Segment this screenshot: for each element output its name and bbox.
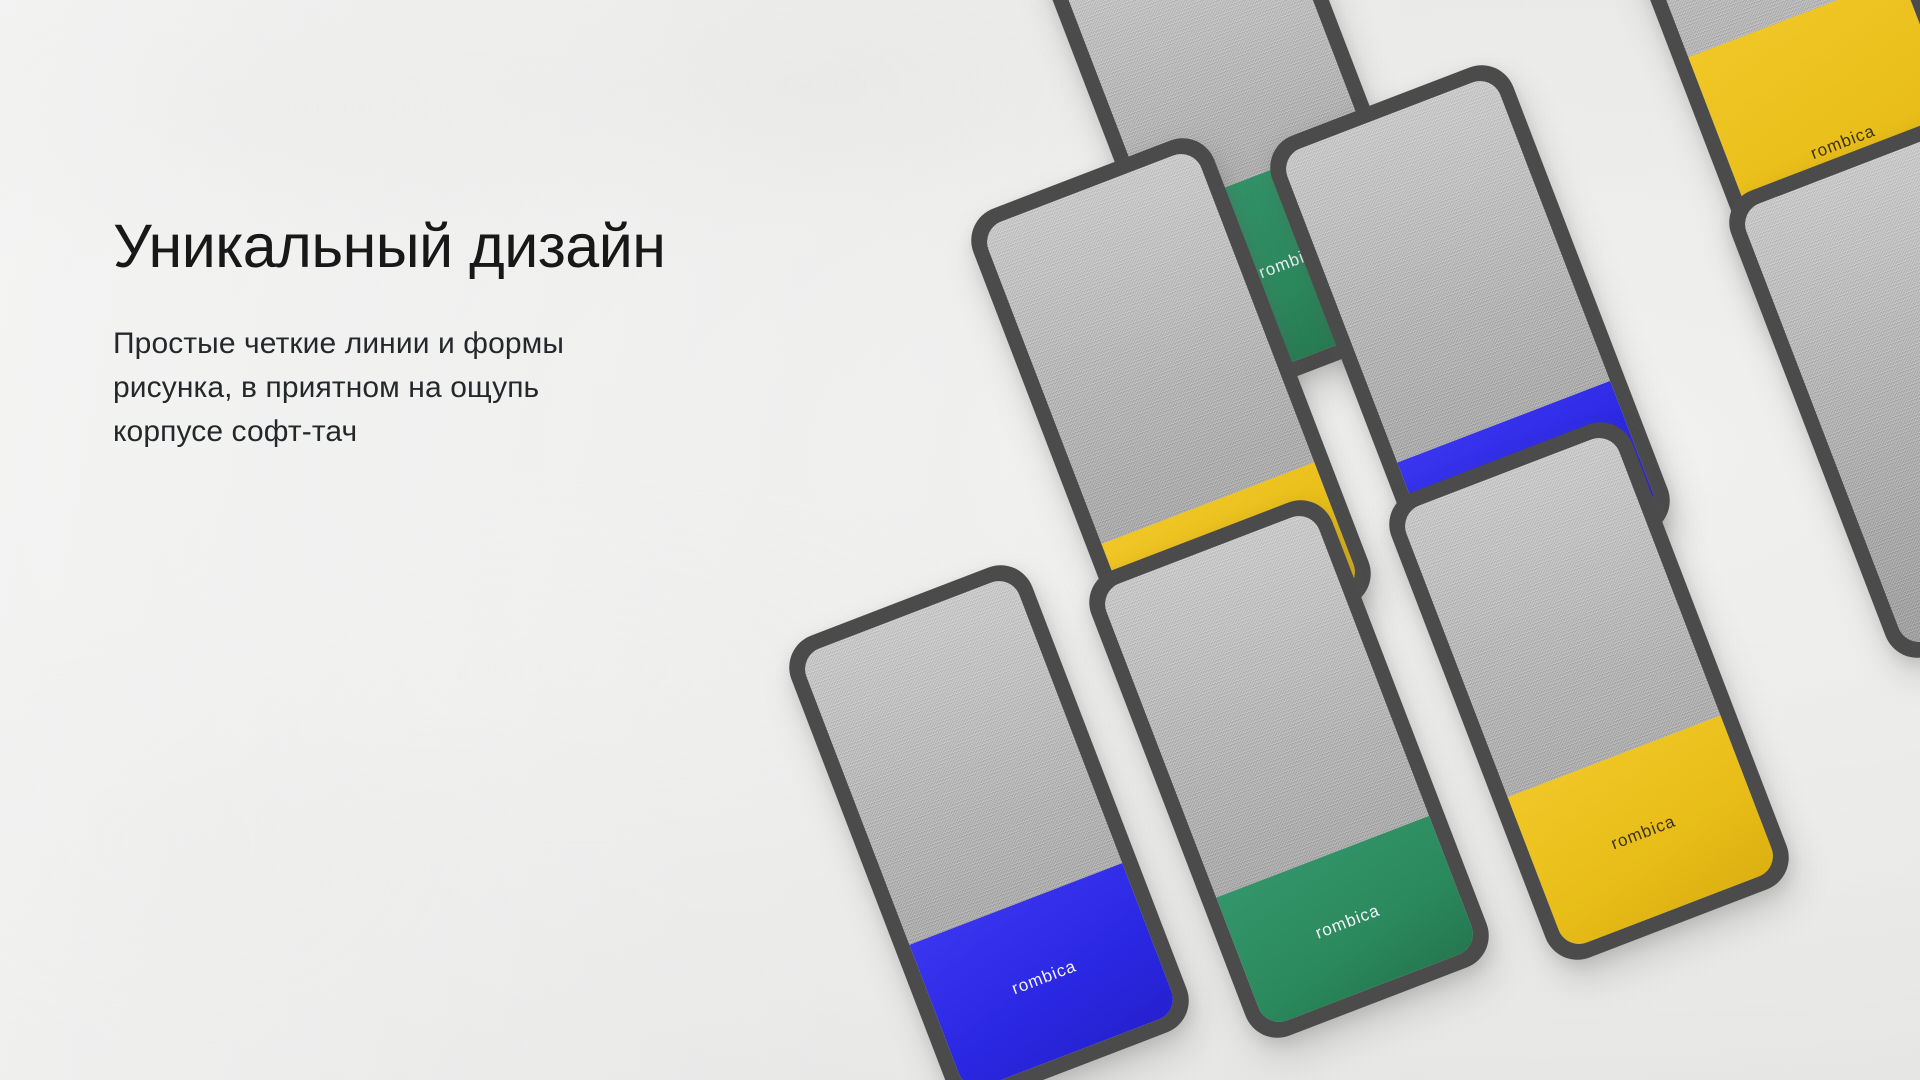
brand-wordmark: rombica	[1009, 957, 1079, 1000]
subtitle-line-1: Простые четкие линии и формы	[113, 322, 703, 366]
brand-wordmark: rombica	[1313, 900, 1383, 943]
promo-banner: rombicarombicarombicarombicarombicarombi…	[0, 0, 1920, 1080]
brand-wordmark: rombica	[1608, 812, 1678, 855]
copy-block: Уникальный дизайн Простые четкие линии и…	[113, 214, 833, 453]
page-subtitle: Простые четкие линии и формы рисунка, в …	[113, 322, 703, 453]
page-title: Уникальный дизайн	[113, 214, 833, 278]
subtitle-line-2: рисунка, в приятном на ощупь	[113, 366, 703, 410]
subtitle-line-3: корпусе софт-тач	[113, 410, 703, 454]
